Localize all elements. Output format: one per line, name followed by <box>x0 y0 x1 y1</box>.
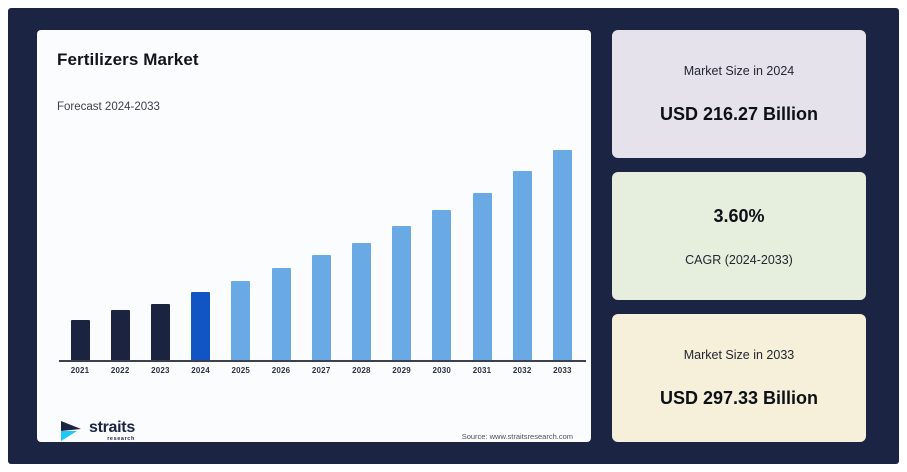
bar-rect-2033 <box>553 150 572 360</box>
straits-arrow-icon <box>59 418 85 444</box>
x-axis-tick-labels: 2021202220232024202520262027202820292030… <box>59 366 586 382</box>
tick-label-2024: 2024 <box>181 366 221 375</box>
tick-label-2022: 2022 <box>100 366 140 375</box>
logo-wordmark: straits <box>89 420 135 436</box>
bar-2026 <box>261 126 301 360</box>
stat-card-column: Market Size in 2024USD 216.27 Billion3.6… <box>612 30 874 442</box>
bar-rect-2022 <box>111 310 130 360</box>
bar-rect-2025 <box>231 281 250 360</box>
bar-rect-2024 <box>191 292 210 360</box>
bar-2021 <box>60 126 100 360</box>
bar-2023 <box>140 126 180 360</box>
stat-card-market-size-2033: Market Size in 2033USD 297.33 Billion <box>612 314 866 442</box>
tick-label-2023: 2023 <box>140 366 180 375</box>
stat-card-label-cagr: CAGR (2024-2033) <box>685 253 793 267</box>
tick-label-2021: 2021 <box>60 366 100 375</box>
stat-card-value-market-size-2033: USD 297.33 Billion <box>660 388 818 409</box>
bar-2027 <box>301 126 341 360</box>
bar-rect-2021 <box>71 320 90 360</box>
tick-label-2031: 2031 <box>462 366 502 375</box>
bar-rect-2027 <box>312 255 331 360</box>
bar-rect-2029 <box>392 226 411 360</box>
tick-label-2032: 2032 <box>502 366 542 375</box>
bar-rect-2023 <box>151 304 170 360</box>
bar-2028 <box>341 126 381 360</box>
bar-series <box>59 126 586 360</box>
chart-subtitle: Forecast 2024-2033 <box>57 101 160 113</box>
bar-rect-2026 <box>272 268 291 360</box>
stat-card-value-market-size-2024: USD 216.27 Billion <box>660 104 818 125</box>
tick-label-2029: 2029 <box>382 366 422 375</box>
page-title: Fertilizers Market <box>57 50 199 70</box>
stat-card-label-market-size-2033: Market Size in 2033 <box>684 348 794 362</box>
bar-rect-2028 <box>352 243 371 360</box>
tick-label-2028: 2028 <box>341 366 381 375</box>
x-axis-line <box>59 360 586 362</box>
stat-card-cagr: 3.60%CAGR (2024-2033) <box>612 172 866 300</box>
infographic-frame: Fertilizers Market Forecast 2024-2033 20… <box>8 8 899 464</box>
tick-label-2026: 2026 <box>261 366 301 375</box>
tick-label-2033: 2033 <box>542 366 582 375</box>
chart-card: Fertilizers Market Forecast 2024-2033 20… <box>37 30 591 442</box>
logo-subtext: research <box>89 437 135 443</box>
bar-rect-2030 <box>432 210 451 360</box>
bar-2030 <box>422 126 462 360</box>
bar-2024 <box>181 126 221 360</box>
bar-rect-2032 <box>513 171 532 360</box>
bar-2029 <box>382 126 422 360</box>
tick-label-2030: 2030 <box>422 366 462 375</box>
bar-2031 <box>462 126 502 360</box>
bar-rect-2031 <box>473 193 492 360</box>
stat-card-label-market-size-2024: Market Size in 2024 <box>684 64 794 78</box>
bar-2032 <box>502 126 542 360</box>
tick-label-2025: 2025 <box>221 366 261 375</box>
straits-research-logo: straits research <box>59 418 135 444</box>
stat-card-market-size-2024: Market Size in 2024USD 216.27 Billion <box>612 30 866 158</box>
stat-card-value-cagr: 3.60% <box>713 206 764 227</box>
tick-label-2027: 2027 <box>301 366 341 375</box>
bar-2033 <box>542 126 582 360</box>
bar-2022 <box>100 126 140 360</box>
source-attribution: Source: www.straitsresearch.com <box>462 432 573 441</box>
bar-2025 <box>221 126 261 360</box>
